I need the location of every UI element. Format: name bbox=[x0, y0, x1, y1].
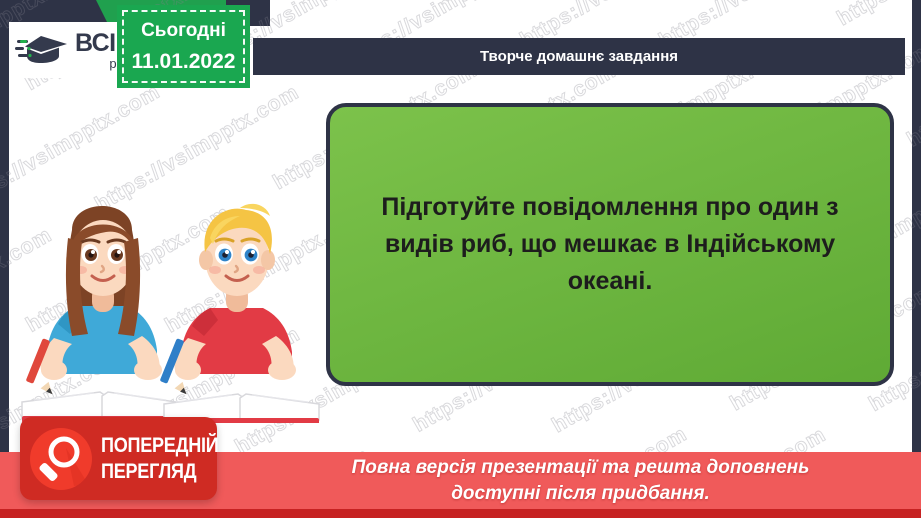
task-text: Підготуйте повідомлення про один з видів… bbox=[364, 189, 856, 300]
boy-figure bbox=[160, 204, 296, 394]
girl-figure bbox=[26, 206, 162, 394]
banner-line-1: Повна версія презентації та решта доповн… bbox=[352, 455, 810, 480]
slide-canvas: https://vsimpptx.comhttps://vsimpptx.com… bbox=[0, 0, 921, 518]
banner-line-2: доступні після придбання. bbox=[451, 481, 710, 506]
slide-header-bar: Творче домашнє завдання bbox=[253, 38, 905, 75]
date-label: Сьогодні bbox=[141, 20, 226, 42]
left-edge-bar bbox=[0, 0, 9, 518]
date-badge: Сьогодні 11.01.2022 bbox=[117, 5, 250, 88]
preview-label-line-1: ПОПЕРЕДНІЙ bbox=[101, 435, 218, 456]
graduation-cap-icon bbox=[15, 30, 73, 70]
two-children-writing-illustration bbox=[14, 178, 324, 423]
banner-base-strip bbox=[0, 509, 921, 518]
magnifier-icon bbox=[30, 428, 92, 490]
page-title: Творче домашнє завдання bbox=[480, 48, 678, 65]
preview-badge[interactable]: ПОПЕРЕДНІЙ ПЕРЕГЛЯД bbox=[20, 417, 217, 500]
date-value: 11.01.2022 bbox=[132, 50, 236, 74]
right-edge-bar bbox=[912, 0, 921, 518]
preview-label-line-2: ПЕРЕГЛЯД bbox=[101, 461, 218, 482]
task-content-box: Підготуйте повідомлення про один з видів… bbox=[326, 103, 894, 386]
